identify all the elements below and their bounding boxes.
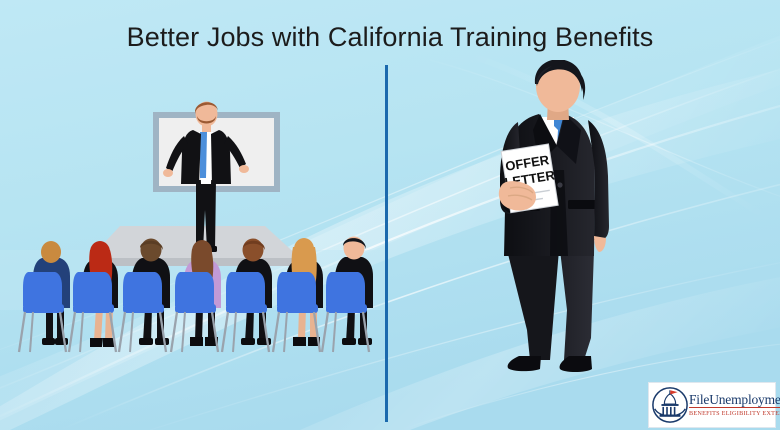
- logo-name: FileUnemployment.org: [689, 393, 780, 408]
- page-title: Better Jobs with California Training Ben…: [0, 22, 780, 53]
- logo-text-block: FileUnemployment.org BENEFITS ELIGIBILIT…: [689, 393, 780, 417]
- infographic-canvas: Better Jobs with California Training Ben…: [0, 0, 780, 430]
- businessman-figure: OFFER LETTER: [499, 60, 609, 372]
- capitol-dome-icon: [651, 386, 689, 424]
- site-logo[interactable]: FileUnemployment.org BENEFITS ELIGIBILIT…: [648, 382, 776, 428]
- businessman-with-offer-letter-illustration: OFFER LETTER: [388, 60, 780, 430]
- logo-tagline: BENEFITS ELIGIBILITY EXTENSION: [689, 410, 780, 417]
- training-classroom-illustration: [0, 60, 385, 430]
